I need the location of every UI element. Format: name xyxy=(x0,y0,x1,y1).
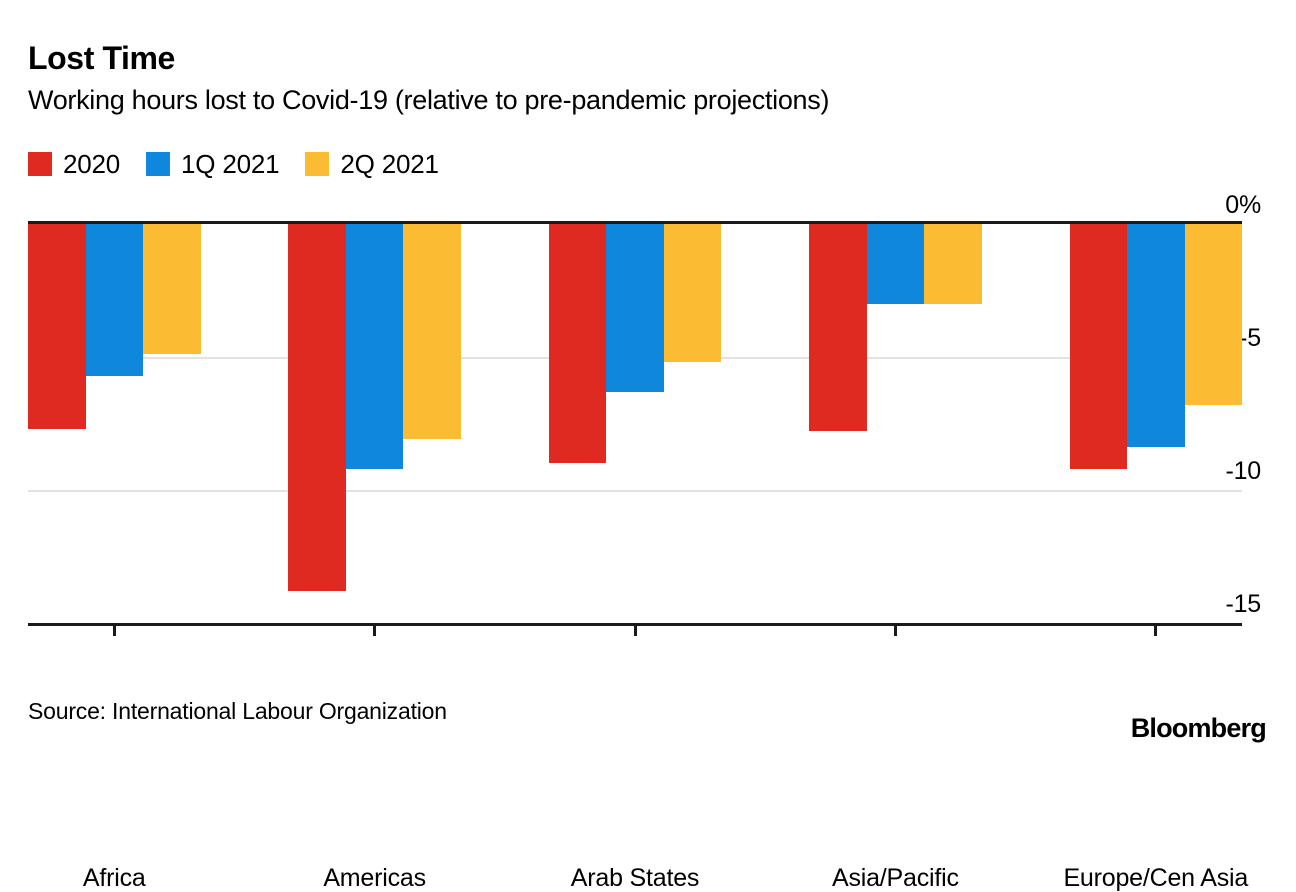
gridline xyxy=(28,490,1242,492)
bar[interactable] xyxy=(346,224,404,469)
plot-area: 0%-5-10-15AfricaAmericasArab StatesAsia/… xyxy=(28,224,1242,623)
bar[interactable] xyxy=(288,224,346,591)
x-axis-category-label: Arab States xyxy=(571,864,699,892)
legend-item[interactable]: 1Q 2021 xyxy=(146,151,279,177)
x-axis-tick xyxy=(113,623,116,636)
bar[interactable] xyxy=(867,224,925,304)
y-axis-tick-label: -10 xyxy=(1141,459,1261,484)
x-axis-tick xyxy=(634,623,637,636)
bar[interactable] xyxy=(86,224,144,376)
bloomberg-logo: Bloomberg xyxy=(1131,714,1266,742)
bar[interactable] xyxy=(28,224,86,429)
bar[interactable] xyxy=(606,224,664,392)
source-note: Source: International Labour Organizatio… xyxy=(28,698,447,724)
bar[interactable] xyxy=(1185,224,1243,405)
x-axis-category-label: Africa xyxy=(83,864,146,892)
chart-legend: 20201Q 20212Q 2021 xyxy=(28,147,439,181)
legend-swatch-icon xyxy=(305,152,329,176)
x-axis-tick xyxy=(1154,623,1157,636)
legend-item[interactable]: 2Q 2021 xyxy=(305,151,438,177)
bar[interactable] xyxy=(1070,224,1128,469)
y-axis-tick-label: -15 xyxy=(1141,592,1261,617)
bar[interactable] xyxy=(924,224,982,304)
page-title: Lost Time xyxy=(28,40,175,76)
x-axis-category-label: Europe/Cen Asia xyxy=(1063,864,1248,892)
legend-label: 1Q 2021 xyxy=(181,151,279,177)
legend-item[interactable]: 2020 xyxy=(28,151,120,177)
x-axis-category-label: Asia/Pacific xyxy=(832,864,959,892)
chart-subtitle: Working hours lost to Covid-19 (relative… xyxy=(28,84,829,116)
chart-page: Lost Time Working hours lost to Covid-19… xyxy=(0,0,1296,760)
legend-label: 2020 xyxy=(63,151,120,177)
x-axis-tick xyxy=(894,623,897,636)
legend-swatch-icon xyxy=(146,152,170,176)
legend-swatch-icon xyxy=(28,152,52,176)
bar[interactable] xyxy=(143,224,201,354)
x-axis-category-label: Americas xyxy=(323,864,426,892)
y-axis-tick-label: 0% xyxy=(1141,193,1261,218)
bar[interactable] xyxy=(1127,224,1185,447)
bar[interactable] xyxy=(664,224,722,362)
bar[interactable] xyxy=(549,224,607,463)
bar[interactable] xyxy=(809,224,867,431)
legend-label: 2Q 2021 xyxy=(340,151,438,177)
bar[interactable] xyxy=(403,224,461,439)
x-axis-tick xyxy=(373,623,376,636)
